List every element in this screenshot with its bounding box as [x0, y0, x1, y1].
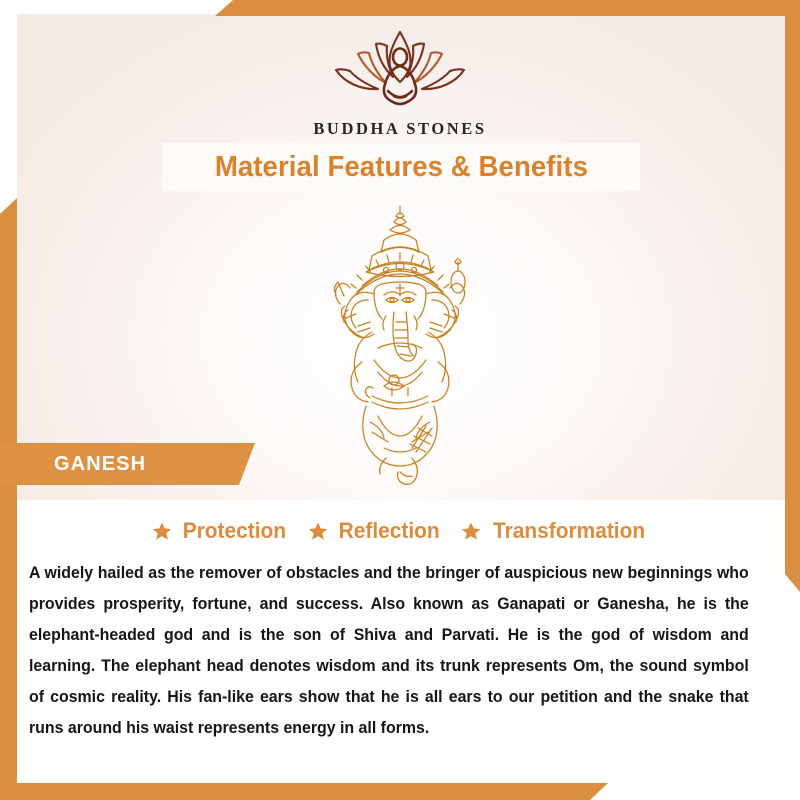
ribbon-label: GANESH [54, 453, 146, 476]
title-band: Material Features & Benefits [162, 143, 640, 191]
star-icon [460, 520, 482, 542]
feature-item: Protection [151, 518, 289, 544]
section-ribbon: GANESH [0, 443, 255, 485]
star-icon [151, 520, 173, 542]
frame-accent-left [0, 198, 17, 800]
feature-item: Reflection [307, 518, 442, 544]
feature-label: Transformation [493, 518, 645, 544]
brand-name: BUDDHA STONES [313, 119, 486, 139]
ganesha-illustration [300, 200, 500, 490]
description-text: A widely hailed as the remover of obstac… [29, 558, 749, 744]
feature-label: Reflection [338, 518, 439, 544]
frame-accent-bottom [0, 783, 608, 800]
feature-item: Transformation [460, 518, 649, 544]
features-row: Protection Reflection Transformation [0, 518, 800, 544]
star-icon [307, 520, 329, 542]
brand-logo: BUDDHA STONES [0, 26, 800, 139]
page-title: Material Features & Benefits [214, 151, 587, 184]
lotus-meditation-icon [314, 26, 486, 112]
frame-accent-top [215, 0, 800, 16]
infographic-page: BUDDHA STONES Material Features & Benefi… [0, 0, 800, 800]
ganesha-line-art-icon [300, 200, 500, 490]
feature-label: Protection [183, 518, 286, 544]
